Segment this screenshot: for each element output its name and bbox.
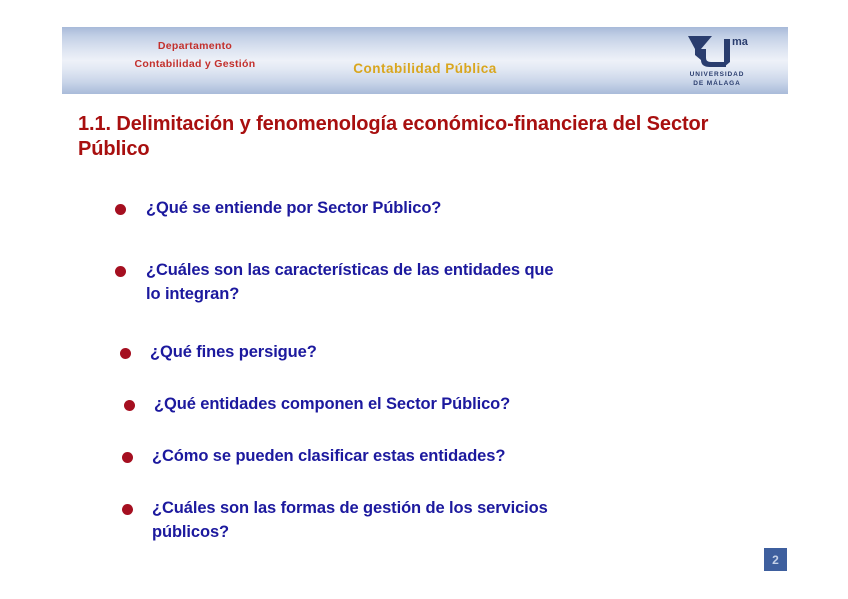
bullet-dot-icon xyxy=(122,504,133,515)
slide-header-band: Departamento Contabilidad y Gestión Cont… xyxy=(62,27,788,94)
bullet-dot-icon xyxy=(122,452,133,463)
logo-subtitle-line1: UNIVERSIDAD xyxy=(674,71,760,80)
bullet-dot-icon xyxy=(120,348,131,359)
page-number-badge: 2 xyxy=(764,548,787,571)
department-name-line1: Departamento xyxy=(80,37,310,55)
list-item-label: ¿Cuáles son las características de las e… xyxy=(146,258,726,306)
list-item-label: ¿Cómo se pueden clasificar estas entidad… xyxy=(152,444,792,468)
svg-text:ma: ma xyxy=(732,36,748,48)
uma-logo-icon: ma xyxy=(686,33,748,71)
list-item-label: ¿Qué fines persigue? xyxy=(150,340,790,364)
page-title: 1.1. Delimitación y fenomenología económ… xyxy=(78,112,778,162)
university-logo: ma UNIVERSIDAD DE MÁLAGA xyxy=(674,33,760,91)
list-item-label: ¿Qué se entiende por Sector Público? xyxy=(146,196,786,220)
logo-subtitle-line2: DE MÁLAGA xyxy=(674,80,760,89)
list-item-label: ¿Cuáles son las formas de gestión de los… xyxy=(152,496,712,544)
bullet-dot-icon xyxy=(115,266,126,277)
bullet-dot-icon xyxy=(124,400,135,411)
slide-canvas: Departamento Contabilidad y Gestión Cont… xyxy=(0,0,848,599)
bullet-dot-icon xyxy=(115,204,126,215)
university-logo-subtitle: UNIVERSIDAD DE MÁLAGA xyxy=(674,71,760,88)
list-item-label: ¿Qué entidades componen el Sector Públic… xyxy=(154,392,794,416)
